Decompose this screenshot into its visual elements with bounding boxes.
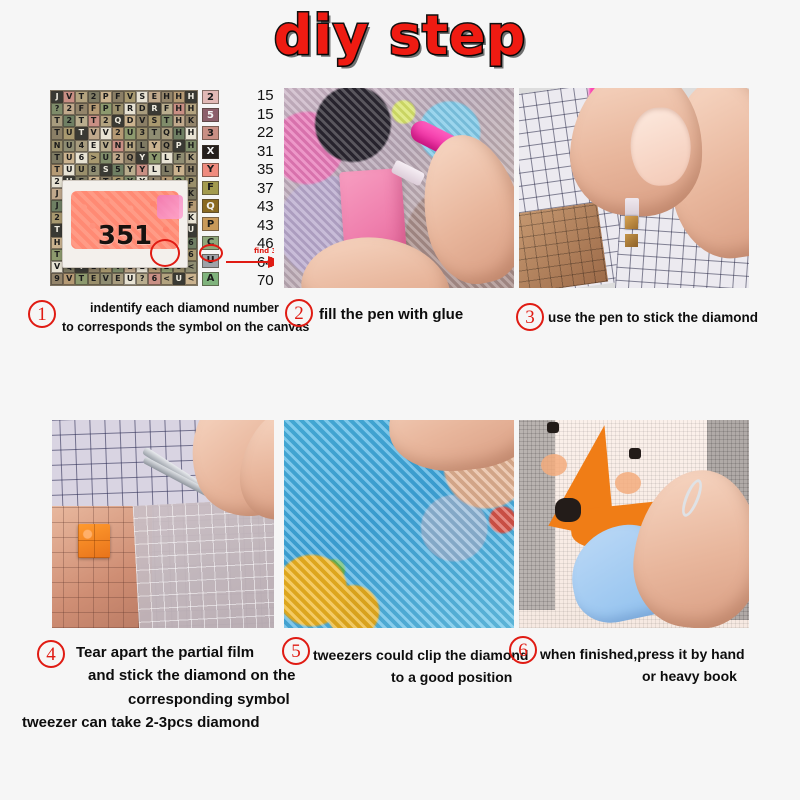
step-5-text: tweezers could clip the diamond to a goo… (313, 645, 528, 688)
symbol-cell: U (100, 152, 112, 164)
step-3-text: use the pen to stick the diamond (548, 308, 758, 329)
step-4-image (52, 420, 274, 628)
symbol-cell: H (185, 91, 197, 103)
fox-cheek-right (615, 472, 641, 494)
diamond-number: 152 (238, 88, 274, 103)
step-1-image: JVT2PFVSEHHH?2FFPTRDRFHHT2TT2QDVSTHKTUTV… (42, 88, 274, 288)
symbol-cell: 2 (100, 115, 112, 127)
symbol-cell: 2 (88, 91, 100, 103)
symbol-cell: Y (124, 164, 136, 176)
symbol-cell: F (88, 103, 100, 115)
symbol-cell: N (51, 140, 63, 152)
orange-diamonds-block (78, 524, 110, 558)
legend-symbol-3: 3 (202, 126, 219, 140)
symbol-cell: D (124, 115, 136, 127)
symbol-cell: T (51, 115, 63, 127)
symbol-cell: R (124, 103, 136, 115)
step-2-image (284, 88, 514, 288)
caption-line: use the pen to stick the diamond (548, 308, 758, 329)
diamond-number: 223 (238, 125, 274, 140)
fox-cheek-left (541, 454, 567, 476)
symbol-cell: V (124, 91, 136, 103)
symbol-cell: E (112, 273, 124, 285)
step-number-badge: 6 (509, 636, 537, 664)
symbol-cell: 5 (112, 164, 124, 176)
legend-symbol-x: X (202, 145, 219, 159)
symbol-cell: 2 (63, 103, 75, 115)
symbol-cell: F (161, 103, 173, 115)
step-3-image (519, 88, 749, 288)
symbol-cell: S (148, 115, 160, 127)
symbol-cell: V (63, 273, 75, 285)
symbol-cell: H (173, 127, 185, 139)
symbol-cell: ? (136, 273, 148, 285)
caption-line: Tear apart the partial film (76, 641, 296, 664)
symbol-cell: H (185, 140, 197, 152)
diamond-number: 434 (238, 199, 274, 214)
legend-symbol-y: Y (202, 163, 219, 177)
caption-line: to corresponds the symbol on the canvas (62, 318, 309, 337)
symbol-cell: H (124, 140, 136, 152)
fingernail (629, 107, 692, 187)
symbol-cell: Q (112, 115, 124, 127)
symbol-cell: V (88, 127, 100, 139)
symbol-cell: < (161, 273, 173, 285)
step-6-image (519, 420, 749, 628)
diamond-number: 154 (238, 107, 274, 122)
diy-step-infographic: diy step JVT2PFVSEHHH?2FFPTRDRFHHT2TT2QD… (0, 0, 800, 800)
legend-symbol-a: A (202, 272, 219, 286)
legend-symbol-q: Q (202, 199, 219, 213)
caption-line: or heavy book (642, 666, 745, 688)
symbol-cell: H (173, 91, 185, 103)
symbol-cell: U (63, 127, 75, 139)
symbol-cell: E (88, 273, 100, 285)
symbol-cell: D (136, 103, 148, 115)
symbol-cell: U (124, 127, 136, 139)
symbol-cell: 2 (112, 152, 124, 164)
symbol-cell: S (136, 91, 148, 103)
protective-film (133, 498, 274, 628)
symbol-cell: T (75, 115, 87, 127)
symbol-cell: P (100, 91, 112, 103)
symbol-cell: P (173, 140, 185, 152)
symbol-cell: J (51, 91, 63, 103)
symbol-cell: Y (136, 152, 148, 164)
caption-line: to a good position (391, 667, 528, 689)
caption-line: fill the pen with glue (319, 303, 463, 326)
legend-symbol-u: U (202, 254, 219, 268)
symbol-cell: Q (124, 152, 136, 164)
caption-line: tweezers could clip the diamond (313, 645, 528, 667)
caption-line: indentify each diamond number (90, 299, 309, 318)
brown-filled-area (519, 202, 608, 288)
find-annotation-label: find 351 (254, 247, 274, 255)
step-number-badge: 2 (285, 299, 313, 327)
symbol-cell: < (185, 273, 197, 285)
step-1-text: indentify each diamond number to corresp… (62, 299, 309, 338)
page-title-container: diy step (0, 2, 800, 68)
page-title: diy step (274, 4, 526, 67)
symbol-cell: E (88, 140, 100, 152)
symbol-cell: K (185, 152, 197, 164)
symbol-cell: P (100, 103, 112, 115)
fox-eye-left (547, 422, 559, 433)
symbol-cell: Q (161, 140, 173, 152)
diamond-number: 310 (238, 144, 274, 159)
step-2-text: fill the pen with glue (319, 303, 463, 326)
symbol-cell: U (63, 164, 75, 176)
symbol-cell: S (100, 164, 112, 176)
legend-symbol-c: C (202, 236, 219, 250)
diamond-number: 703 (238, 273, 274, 288)
symbol-cell: Q (161, 127, 173, 139)
step-5-image (284, 420, 514, 628)
symbol-cell: K (185, 115, 197, 127)
legend-symbol-p: P (202, 217, 219, 231)
symbol-cell: L (148, 164, 160, 176)
symbol-cell: T (51, 127, 63, 139)
symbol-cell: H (185, 127, 197, 139)
symbol-cell: T (75, 91, 87, 103)
fox-nose (555, 498, 581, 522)
symbol-cell: H (185, 164, 197, 176)
caption-line: corresponding symbol (128, 688, 296, 711)
symbol-cell: 6 (148, 273, 160, 285)
symbol-cell: F (75, 103, 87, 115)
symbol-cell: L (161, 152, 173, 164)
symbol-cell: T (112, 103, 124, 115)
symbol-cell: Y (148, 140, 160, 152)
symbol-cell: T (75, 127, 87, 139)
symbol-cell: T (148, 127, 160, 139)
symbol-cell: T (51, 164, 63, 176)
symbol-cell: V (100, 140, 112, 152)
diamond-bag-label: 351 (63, 221, 187, 251)
step-number-badge: 3 (516, 303, 544, 331)
symbol-cell: 2 (63, 115, 75, 127)
caption-line: and stick the diamond on the (88, 664, 296, 687)
symbol-cell: R (148, 103, 160, 115)
symbol-legend-column: 253XYFQPCUA (202, 90, 224, 286)
symbol-cell: U (75, 164, 87, 176)
fox-eye-right (629, 448, 641, 459)
symbol-cell: V (63, 91, 75, 103)
gold-diamond (625, 216, 638, 229)
symbol-cell: U (173, 273, 185, 285)
find-arrow-icon (226, 256, 274, 268)
symbol-cell: E (148, 91, 160, 103)
caption-line: tweezer can take 2-3pcs diamond (22, 711, 296, 734)
step-number-badge: 1 (28, 300, 56, 328)
caption-line: when finished,press it by hand (540, 644, 745, 666)
symbol-cell: F (112, 91, 124, 103)
symbol-cell: T (88, 115, 100, 127)
symbol-cell: T (51, 152, 63, 164)
symbol-cell: 2 (112, 127, 124, 139)
step-6-text: when finished,press it by hand or heavy … (540, 644, 745, 687)
symbol-cell: U (124, 273, 136, 285)
diamond-bag: 351 (62, 180, 188, 268)
legend-symbol-f: F (202, 181, 219, 195)
symbol-cell: U (63, 152, 75, 164)
step-4-text: Tear apart the partial film and stick th… (70, 641, 296, 734)
symbol-cell: T (161, 115, 173, 127)
symbol-cell: H (161, 91, 173, 103)
symbol-cell: ? (51, 103, 63, 115)
diamond-number: 436 (238, 218, 274, 233)
symbol-cell: > (88, 152, 100, 164)
diamond-number: 351 (238, 162, 274, 177)
symbol-cell: T (75, 273, 87, 285)
symbol-cell: U (63, 140, 75, 152)
symbol-cell: Y (148, 152, 160, 164)
symbol-cell: Y (136, 164, 148, 176)
symbol-cell: 3 (136, 127, 148, 139)
symbol-cell: N (112, 140, 124, 152)
symbol-cell: 9 (51, 273, 63, 285)
step-number-badge: 4 (37, 640, 65, 668)
step-number-badge: 5 (282, 637, 310, 665)
legend-symbol-2: 2 (202, 90, 219, 104)
legend-symbol-5: 5 (202, 108, 219, 122)
symbol-cell: T (173, 164, 185, 176)
symbol-cell: 4 (75, 140, 87, 152)
symbol-cell: 8 (88, 164, 100, 176)
gold-diamond-placed (625, 234, 638, 247)
symbol-cell: H (185, 103, 197, 115)
symbol-cell: V (136, 115, 148, 127)
symbol-cell: H (173, 103, 185, 115)
symbol-cell: L (136, 140, 148, 152)
symbol-cell: F (173, 152, 185, 164)
symbol-cell: 6 (75, 152, 87, 164)
diamond-number: 371 (238, 181, 274, 196)
symbol-cell: H (173, 115, 185, 127)
symbol-cell: V (100, 273, 112, 285)
symbol-cell: V (100, 127, 112, 139)
symbol-cell: L (161, 164, 173, 176)
